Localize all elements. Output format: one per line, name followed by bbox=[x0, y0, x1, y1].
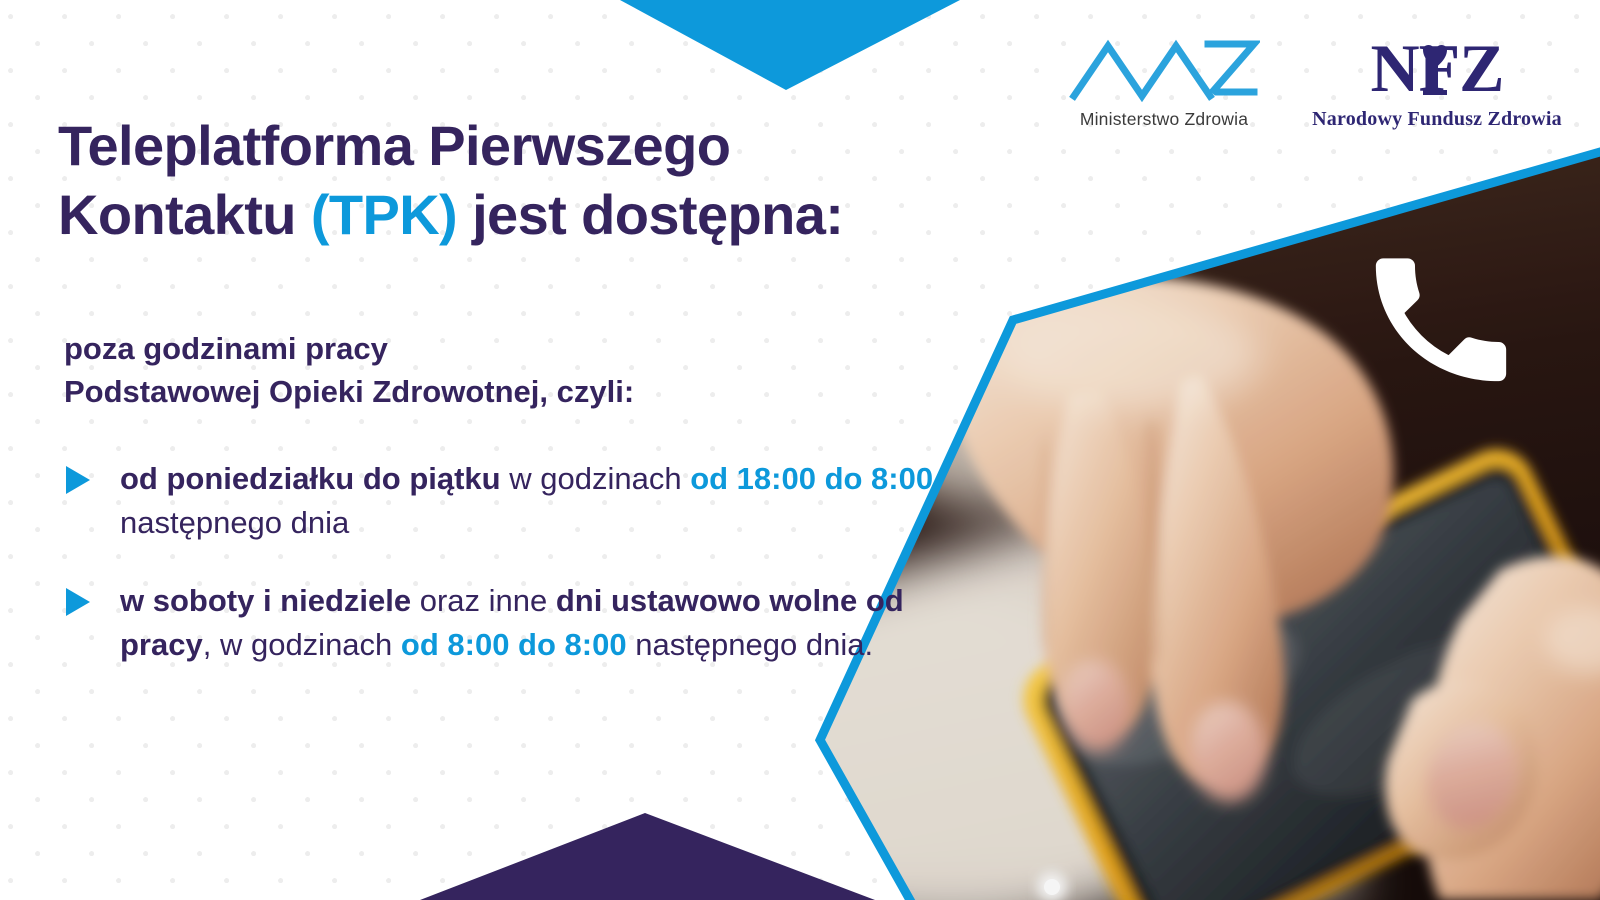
headline-line-1: Teleplatforma Pierwszego bbox=[58, 114, 730, 177]
poster: Ministerstwo Zdrowia NFZ Narodowy Fundus… bbox=[0, 0, 1600, 900]
bullet-1-segment-4: następnego dnia bbox=[120, 505, 349, 540]
bullet-1-segment-1: od poniedziałku do piątku bbox=[120, 461, 501, 496]
subheading-line-1: poza godzinami pracy bbox=[64, 331, 388, 366]
nfz-wordmark-icon: NFZ bbox=[1312, 34, 1562, 107]
triangle-right-icon bbox=[66, 588, 90, 616]
bullet-2-segment-6: następnego dnia. bbox=[627, 627, 874, 662]
nfz-logo-caption: Narodowy Fundusz Zdrowia bbox=[1312, 108, 1562, 131]
subheading-line-2: Podstawowej Opieki Zdrowotnej, czyli: bbox=[64, 374, 634, 409]
bullet-2-segment-2: oraz inne bbox=[411, 583, 556, 618]
mz-zigzag-icon bbox=[1068, 34, 1260, 107]
bullet-1-segment-3: od 18:00 do 8:00 bbox=[690, 461, 933, 496]
page-title: Teleplatforma Pierwszego Kontaktu (TPK) … bbox=[58, 112, 988, 250]
ministry-logo-caption: Ministerstwo Zdrowia bbox=[1068, 109, 1260, 130]
ministry-of-health-logo: Ministerstwo Zdrowia bbox=[1068, 34, 1260, 130]
triangle-right-icon bbox=[66, 466, 90, 494]
subheading: poza godzinami pracy Podstawowej Opieki … bbox=[64, 328, 884, 414]
headline-line-2-pre: Kontaktu bbox=[58, 183, 311, 246]
logo-row: Ministerstwo Zdrowia NFZ Narodowy Fundus… bbox=[1068, 34, 1562, 131]
headline-accent-tpk: (TPK) bbox=[311, 183, 457, 246]
bullet-1-segment-2: w godzinach bbox=[501, 461, 691, 496]
list-item: w soboty i niedziele oraz inne dni ustaw… bbox=[58, 579, 988, 667]
nfz-logo: NFZ Narodowy Fundusz Zdrowia bbox=[1312, 34, 1562, 131]
headline-line-2-post: jest dostępna: bbox=[457, 183, 843, 246]
content-block: Teleplatforma Pierwszego Kontaktu (TPK) … bbox=[58, 112, 988, 667]
bullet-2-segment-4: , w godzinach bbox=[203, 627, 401, 662]
bullet-2-segment-5: od 8:00 do 8:00 bbox=[401, 627, 627, 662]
telephone-handset-icon bbox=[1355, 232, 1525, 402]
bullet-2-segment-1: w soboty i niedziele bbox=[120, 583, 411, 618]
list-item: od poniedziałku do piątku w godzinach od… bbox=[58, 457, 988, 545]
availability-hours-list: od poniedziałku do piątku w godzinach od… bbox=[58, 457, 988, 667]
